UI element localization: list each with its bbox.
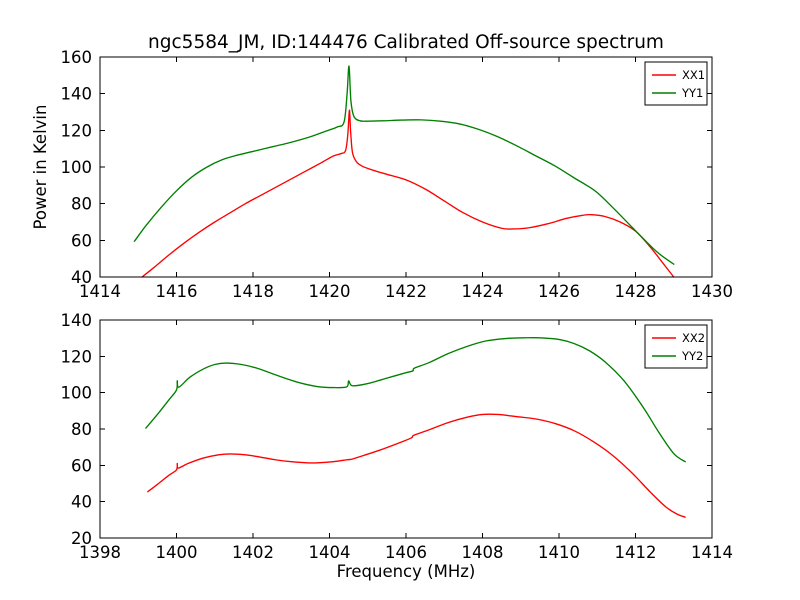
- top-panel-ylabel: Power in Kelvin: [31, 105, 50, 230]
- legend-top[interactable]: XX1 YY1: [645, 62, 707, 105]
- ytick-label: 140: [61, 85, 93, 104]
- spectrum-figure: ngc5584_JM, ID:144476 Calibrated Off-sou…: [0, 0, 800, 600]
- xtick-label: 1406: [385, 543, 427, 562]
- ytick-label: 100: [61, 384, 93, 403]
- legend-bottom-label-yy2: YY2: [681, 349, 703, 363]
- ytick-label: 40: [71, 493, 92, 512]
- ytick-label: 120: [61, 121, 93, 140]
- xtick-label: 1416: [156, 282, 198, 301]
- xtick-label: 1404: [309, 543, 351, 562]
- xtick-label: 1424: [462, 282, 504, 301]
- xtick-label: 1422: [385, 282, 427, 301]
- ytick-label: 80: [71, 420, 92, 439]
- bottom-panel-xlabel: Frequency (MHz): [337, 562, 476, 581]
- xtick-label: 1410: [538, 543, 580, 562]
- xtick-label: 1430: [691, 282, 733, 301]
- bottom-panel-ticks: [100, 320, 712, 538]
- ytick-label: 160: [61, 48, 93, 67]
- xtick-label: 1426: [538, 282, 580, 301]
- xtick-label: 1428: [615, 282, 657, 301]
- series-line-xx1: [142, 110, 674, 277]
- xtick-label: 1412: [615, 543, 657, 562]
- series-line-yy2: [146, 338, 685, 462]
- top-panel: 1414141614181420142214241426142814304060…: [31, 48, 733, 301]
- figure-title: ngc5584_JM, ID:144476 Calibrated Off-sou…: [148, 32, 664, 53]
- figure-canvas: ngc5584_JM, ID:144476 Calibrated Off-sou…: [0, 0, 800, 600]
- legend-bottom-label-xx2: XX2: [682, 331, 705, 345]
- ytick-label: 40: [71, 268, 92, 287]
- top-panel-ticks: [100, 57, 712, 277]
- ytick-label: 100: [61, 158, 93, 177]
- series-line-xx2: [148, 414, 685, 517]
- bottom-panel-series: [146, 338, 685, 517]
- series-line-yy1: [134, 66, 673, 264]
- ytick-label: 140: [61, 311, 93, 330]
- xtick-label: 1414: [691, 543, 733, 562]
- xtick-label: 1408: [462, 543, 504, 562]
- top-panel-tick-labels: 1414141614181420142214241426142814304060…: [61, 48, 734, 301]
- bottom-panel-tick-labels: 1398140014021404140614081410141214142040…: [61, 311, 734, 562]
- legend-top-label-yy1: YY1: [681, 86, 703, 100]
- ytick-label: 20: [71, 529, 92, 548]
- xtick-label: 1402: [232, 543, 274, 562]
- ytick-label: 120: [61, 347, 93, 366]
- top-panel-series: [134, 66, 673, 277]
- xtick-label: 1418: [232, 282, 274, 301]
- top-panel-frame: [100, 57, 712, 277]
- legend-top-label-xx1: XX1: [682, 68, 705, 82]
- xtick-label: 1400: [156, 543, 198, 562]
- bottom-panel-frame: [100, 320, 712, 538]
- bottom-panel: 1398140014021404140614081410141214142040…: [61, 311, 734, 581]
- legend-bottom[interactable]: XX2 YY2: [645, 325, 707, 368]
- ytick-label: 60: [71, 231, 92, 250]
- xtick-label: 1420: [309, 282, 351, 301]
- ytick-label: 60: [71, 456, 92, 475]
- ytick-label: 80: [71, 195, 92, 214]
